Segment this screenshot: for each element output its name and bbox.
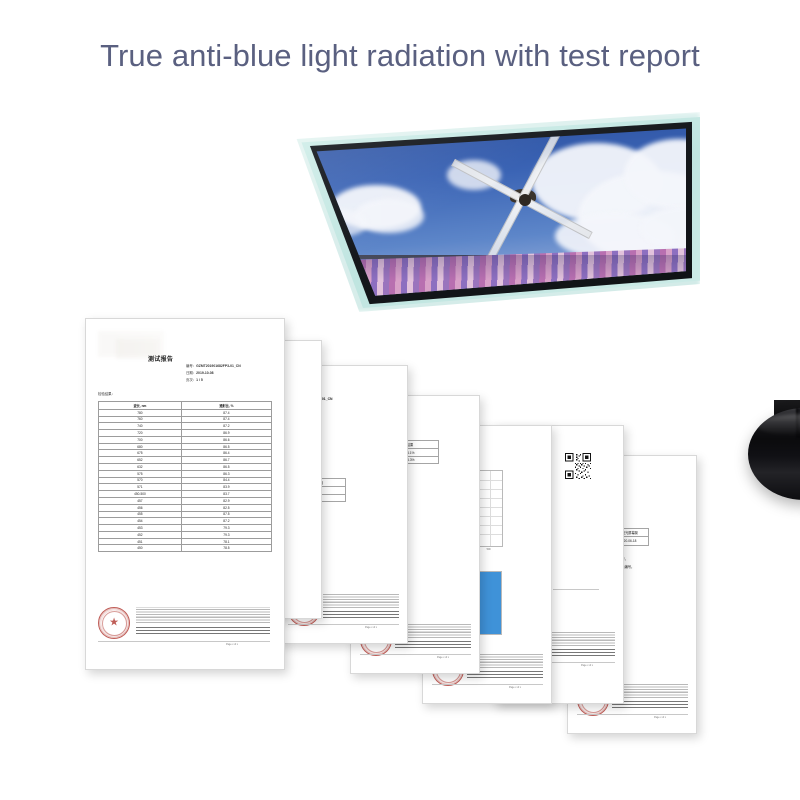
table-cell: 720: [99, 430, 182, 437]
table-row: 70086.6: [99, 436, 272, 443]
table-cell: 450: [99, 545, 182, 552]
table-cell: 575: [99, 470, 182, 477]
table-row: 45587.5: [99, 511, 272, 518]
footer-divider: [432, 684, 543, 685]
table-row: 65286.7: [99, 457, 272, 464]
meta-value: 2019-10-08: [196, 371, 213, 375]
table-cell: 453: [99, 525, 182, 532]
table-row: 67586.4: [99, 450, 272, 457]
table-cell: 82.9: [181, 497, 271, 504]
table-cell: 86.9: [181, 430, 271, 437]
table-cell: 86.5: [181, 443, 271, 450]
table-row: 45782.9: [99, 497, 272, 504]
table-row: 72086.9: [99, 430, 272, 437]
meta-label: 页次：: [186, 378, 196, 382]
meta-label: 日期：: [186, 371, 196, 375]
table-row: 57084.4: [99, 477, 272, 484]
footer-contact: [323, 611, 399, 618]
table-cell: 86.3: [181, 470, 271, 477]
footer-page-note: Page x of x: [226, 643, 238, 646]
table-row: 57183.9: [99, 484, 272, 491]
monitor: [282, 108, 702, 358]
table-cell: 83.9: [181, 484, 271, 491]
footer-page-note: Page x of x: [437, 656, 449, 659]
product-banner: True anti-blue light radiation with test…: [0, 0, 800, 800]
table-row: 45178.1: [99, 538, 272, 545]
table-row: 76087.4: [99, 416, 272, 423]
footer-disclaimer: [136, 607, 270, 623]
table-row: 74087.2: [99, 423, 272, 430]
table-cell: 740: [99, 423, 182, 430]
table-cell: 87.2: [181, 518, 271, 525]
table-caption: 检验结果：: [98, 391, 115, 397]
table-row: 45379.3: [99, 525, 272, 532]
table-row: 450-50083.7: [99, 491, 272, 498]
measurement-table: 波长, nm透射比, %78087.476087.474087.272086.9…: [98, 401, 272, 552]
table-row: 45279.3: [99, 531, 272, 538]
table-cell: 83.7: [181, 491, 271, 498]
table-cell: 571: [99, 484, 182, 491]
table-cell: 78.1: [181, 538, 271, 545]
table-cell: 86.5: [181, 464, 271, 471]
table-cell: 79.3: [181, 531, 271, 538]
table-cell: 78.5: [181, 545, 271, 552]
star-icon: ★: [109, 618, 119, 629]
column-header: 波长, nm: [99, 402, 182, 410]
table-cell: 456: [99, 504, 182, 511]
table-row: 68086.5: [99, 443, 272, 450]
table-cell: 86.6: [181, 436, 271, 443]
page-title: True anti-blue light radiation with test…: [0, 38, 800, 74]
table-cell: 82.5: [181, 504, 271, 511]
meta-value: 1 / 5: [196, 378, 203, 382]
table-cell: 760: [99, 416, 182, 423]
table-cell: 450-500: [99, 491, 182, 498]
table-cell: 780: [99, 409, 182, 416]
official-seal-icon: ★: [98, 607, 130, 639]
table-cell: 87.4: [181, 416, 271, 423]
report-meta-code: 编号：GZMT201901682FP3-01_CN: [186, 363, 241, 369]
column-header: 透射比, %: [181, 402, 271, 410]
table-cell: 452: [99, 531, 182, 538]
footer-disclaimer: [323, 594, 399, 608]
table-cell: 86.4: [181, 450, 271, 457]
table-cell: 87.4: [181, 409, 271, 416]
qr-code-icon: [565, 453, 591, 479]
table-row: 78087.4: [99, 409, 272, 416]
table-cell: 455: [99, 511, 182, 518]
footer-page-note: Page x of x: [365, 626, 377, 629]
x-tick-label: 500: [487, 548, 491, 551]
footer-divider: [577, 714, 688, 715]
meta-value: GZMT201901682FP3-01_CN: [196, 364, 240, 368]
table-row: 45682.5: [99, 504, 272, 511]
footer-divider: [288, 624, 399, 625]
table-cell: 79.3: [181, 525, 271, 532]
test-report-primary: 测试报告 编号：GZMT201901682FP3-01_CN 日期：2019-1…: [85, 318, 285, 670]
table-cell: 87.2: [181, 423, 271, 430]
footer-page-note: Page x of x: [654, 716, 666, 719]
footer-divider: [98, 641, 270, 642]
table-cell: 680: [99, 443, 182, 450]
table-cell: 84.4: [181, 477, 271, 484]
table-cell: 570: [99, 477, 182, 484]
table-cell: 675: [99, 450, 182, 457]
footer-page-note: Page x of x: [509, 686, 521, 689]
table-cell: 652: [99, 457, 182, 464]
table-cell: 700: [99, 436, 182, 443]
report-meta-page: 页次：1 / 5: [186, 377, 203, 383]
footer-divider: [360, 654, 471, 655]
table-cell: 632: [99, 464, 182, 471]
footer-contact: [136, 626, 270, 634]
table-header-row: 波长, nm透射比, %: [99, 402, 272, 410]
table-cell: 86.7: [181, 457, 271, 464]
table-cell: 451: [99, 538, 182, 545]
report-meta-date: 日期：2019-10-08: [186, 370, 214, 376]
table-row: 45078.5: [99, 545, 272, 552]
table-cell: 87.5: [181, 511, 271, 518]
table-cell: 457: [99, 497, 182, 504]
report-title: 测试报告: [148, 354, 173, 363]
table-row: 63286.5: [99, 464, 272, 471]
footer-page-note: Page x of x: [581, 664, 593, 667]
table-cell: 454: [99, 518, 182, 525]
table-row: 45487.2: [99, 518, 272, 525]
gridline: [490, 471, 491, 546]
signature-divider: [553, 589, 599, 590]
meta-label: 编号：: [186, 364, 196, 368]
table-row: 57586.3: [99, 470, 272, 477]
